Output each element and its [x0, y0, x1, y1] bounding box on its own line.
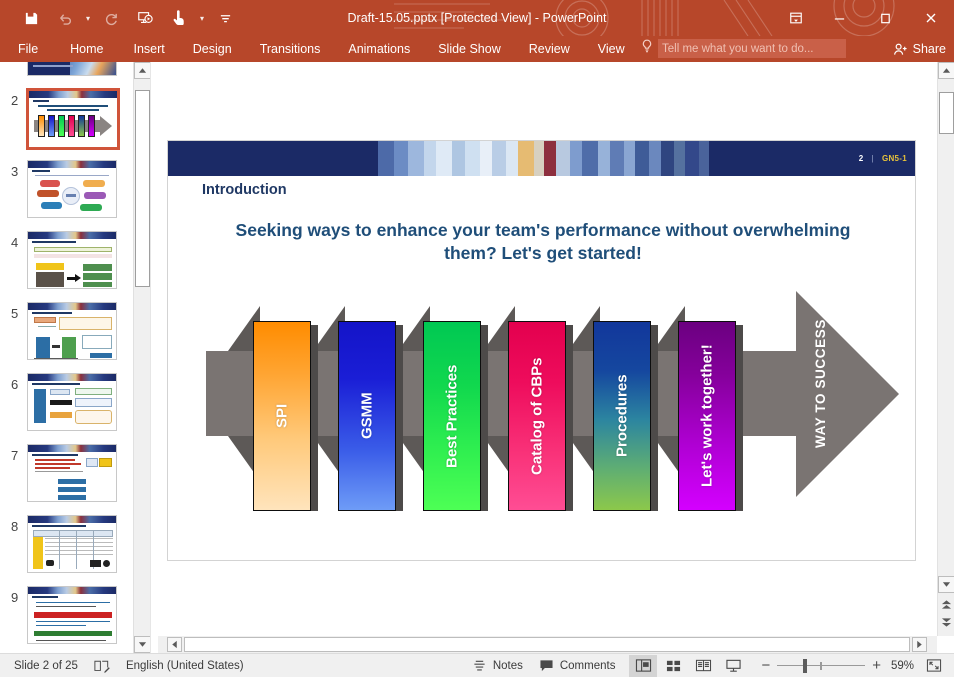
thumbnail-image: [27, 515, 117, 573]
tab-slide-show[interactable]: Slide Show: [424, 36, 515, 62]
zoom-slider-handle[interactable]: [803, 659, 807, 673]
thumbnail-slide-1[interactable]: 1: [0, 62, 133, 85]
tab-review[interactable]: Review: [515, 36, 584, 62]
thumbnail-slide-6[interactable]: 6: [0, 369, 133, 440]
undo-icon[interactable]: [48, 3, 82, 33]
banner-separator: |: [872, 154, 874, 163]
status-bar: Slide 2 of 25 English (United States) No…: [0, 653, 954, 677]
thumbnail-scroll-down-icon[interactable]: [134, 636, 151, 653]
thumbnail-number: 3: [11, 164, 18, 179]
banner-meta: 2 | GN5-1: [859, 141, 907, 176]
slide-section-title: Introduction: [202, 182, 287, 198]
process-bar-lets-work-together[interactable]: Let's work together!: [678, 321, 736, 511]
comments-label: Comments: [560, 660, 616, 672]
thumbnail-number: 6: [11, 377, 18, 392]
minimize-icon[interactable]: [816, 0, 862, 36]
thumbnail-image: [27, 302, 117, 360]
slide-show-button[interactable]: [719, 655, 747, 677]
tab-insert[interactable]: Insert: [120, 36, 179, 62]
process-arrow-diagram: SPI GSMM Best Practices Catalog of CBPs: [168, 291, 916, 541]
thumbnail-number: 9: [11, 590, 18, 605]
normal-view-button[interactable]: [629, 655, 657, 677]
share-label: Share: [913, 42, 946, 56]
ribbon-tabs: File Home Insert Design Transitions Anim…: [0, 36, 639, 62]
project-code-label: GN5-1: [882, 154, 907, 163]
thumbnail-image: [26, 88, 120, 150]
thumbnail-scroll-thumb[interactable]: [135, 90, 150, 287]
zoom-out-button[interactable]: −: [761, 658, 770, 673]
thumbnail-image: [27, 231, 117, 289]
tell-me-container: [641, 39, 846, 58]
thumbnail-number: 4: [11, 235, 18, 250]
tell-me-input[interactable]: [658, 39, 846, 58]
tab-transitions[interactable]: Transitions: [246, 36, 335, 62]
main-body: 1 2: [0, 62, 954, 653]
spellcheck-icon[interactable]: [86, 654, 118, 677]
arrow-head: [796, 291, 899, 497]
thumbnail-image: [27, 444, 117, 502]
thumbnail-scroll-up-icon[interactable]: [134, 62, 151, 79]
scroll-up-icon[interactable]: [938, 62, 954, 79]
zoom-level-label[interactable]: 59%: [888, 660, 914, 672]
quick-access-toolbar: ▾ ▾: [14, 0, 242, 36]
slide-banner: 2 | GN5-1: [168, 141, 916, 176]
thumbnail-scrollbar[interactable]: [133, 62, 150, 653]
vertical-scroll-thumb[interactable]: [939, 92, 954, 134]
ribbon-tab-bar: File Home Insert Design Transitions Anim…: [0, 36, 954, 62]
slide-counter-label: Slide 2 of 25: [14, 660, 78, 672]
scroll-down-icon[interactable]: [938, 576, 954, 593]
slide-heading: Seeking ways to enhance your team's perf…: [228, 219, 858, 266]
redo-icon[interactable]: [94, 3, 128, 33]
process-bar-procedures[interactable]: Procedures: [593, 321, 651, 511]
fit-window-icon: [926, 658, 942, 673]
window-controls: [776, 0, 954, 36]
view-buttons: [623, 654, 753, 677]
zoom-slider[interactable]: [777, 659, 865, 673]
tab-animations[interactable]: Animations: [334, 36, 424, 62]
process-bar-catalog-of-cbps[interactable]: Catalog of CBPs: [508, 321, 566, 511]
share-button[interactable]: Share: [893, 39, 946, 59]
thumbnail-number: 2: [11, 93, 18, 108]
thumbnail-image: [27, 586, 117, 644]
tab-view[interactable]: View: [584, 36, 639, 62]
thumbnail-slide-4[interactable]: 4: [0, 227, 133, 298]
thumbnail-slide-8[interactable]: 8: [0, 511, 133, 582]
bar-label: SPI: [253, 321, 311, 511]
slide-thumbnail-pane[interactable]: 1 2: [0, 62, 133, 653]
scroll-right-icon[interactable]: [912, 637, 927, 652]
process-bar-spi[interactable]: SPI: [253, 321, 311, 511]
thumbnail-image: [27, 373, 117, 431]
tab-design[interactable]: Design: [179, 36, 246, 62]
powerpoint-window: ▾ ▾ Draft-15.05.pptx [Protected View] - …: [0, 0, 954, 677]
tab-home[interactable]: Home: [54, 36, 119, 62]
comments-button[interactable]: Comments: [531, 654, 624, 677]
notes-icon: [472, 659, 487, 672]
notes-label: Notes: [493, 660, 523, 672]
thumbnail-image: [27, 62, 117, 76]
zoom-slider-midpoint: [820, 662, 822, 670]
thumbnail-slide-7[interactable]: 7: [0, 440, 133, 511]
slide-canvas[interactable]: 2 | GN5-1 Introduction Seeking ways to e…: [167, 140, 916, 561]
comment-icon: [539, 659, 554, 672]
customize-toolbar-icon[interactable]: [208, 3, 242, 33]
slide-counter[interactable]: Slide 2 of 25: [0, 654, 86, 677]
horizontal-scroll-track[interactable]: [184, 637, 910, 652]
thumbnail-slide-2[interactable]: 2: [0, 85, 133, 156]
thumbnail-number: 7: [11, 448, 18, 463]
slide-editing-area[interactable]: 2 | GN5-1 Introduction Seeking ways to e…: [158, 62, 937, 653]
undo-dropdown-icon[interactable]: ▾: [82, 3, 94, 33]
language-indicator[interactable]: English (United States): [118, 654, 252, 677]
zoom-control: − + 59%: [753, 654, 918, 677]
process-bar-gsmm[interactable]: GSMM: [338, 321, 396, 511]
thumbnail-slide-5[interactable]: 5: [0, 298, 133, 369]
horizontal-scrollbar[interactable]: [158, 636, 937, 653]
bar-label: Catalog of CBPs: [508, 321, 566, 511]
slide-sorter-button[interactable]: [659, 655, 687, 677]
start-presentation-icon[interactable]: [128, 3, 162, 33]
title-bar: ▾ ▾ Draft-15.05.pptx [Protected View] - …: [0, 0, 954, 36]
thumbnail-number: 5: [11, 306, 18, 321]
close-icon[interactable]: [908, 0, 954, 36]
save-icon[interactable]: [14, 3, 48, 33]
pane-splitter[interactable]: [150, 62, 158, 653]
restore-icon[interactable]: [862, 0, 908, 36]
share-person-icon: [893, 42, 908, 57]
thumbnail-image: [27, 160, 117, 218]
scroll-left-icon[interactable]: [167, 637, 182, 652]
language-label: English (United States): [126, 660, 244, 672]
previous-slide-icon[interactable]: [938, 596, 954, 613]
reading-view-button[interactable]: [689, 655, 717, 677]
notes-button[interactable]: Notes: [464, 654, 531, 677]
thumbnail-list: 1 2: [0, 62, 133, 653]
way-to-success-label: WAY TO SUCCESS: [813, 338, 828, 448]
bar-label: Let's work together!: [678, 321, 736, 511]
next-slide-icon[interactable]: [938, 614, 954, 631]
thumbnail-slide-9[interactable]: 9: [0, 582, 133, 653]
touch-mode-dropdown-icon[interactable]: ▾: [196, 3, 208, 33]
tab-file[interactable]: File: [0, 36, 54, 62]
slide-vertical-scrollbar[interactable]: [937, 62, 954, 636]
fit-to-window-button[interactable]: [918, 654, 954, 677]
ribbon-display-options-icon[interactable]: [776, 0, 816, 36]
zoom-in-button[interactable]: +: [872, 658, 881, 673]
slide-number-label: 2: [859, 154, 864, 163]
lightbulb-icon: [641, 39, 653, 58]
bar-label: Procedures: [593, 321, 651, 511]
thumbnail-slide-3[interactable]: 3: [0, 156, 133, 227]
bar-label: GSMM: [338, 321, 396, 511]
bar-label: Best Practices: [423, 321, 481, 511]
process-bar-best-practices[interactable]: Best Practices: [423, 321, 481, 511]
thumbnail-number: 8: [11, 519, 18, 534]
touch-mouse-mode-icon[interactable]: [162, 3, 196, 33]
